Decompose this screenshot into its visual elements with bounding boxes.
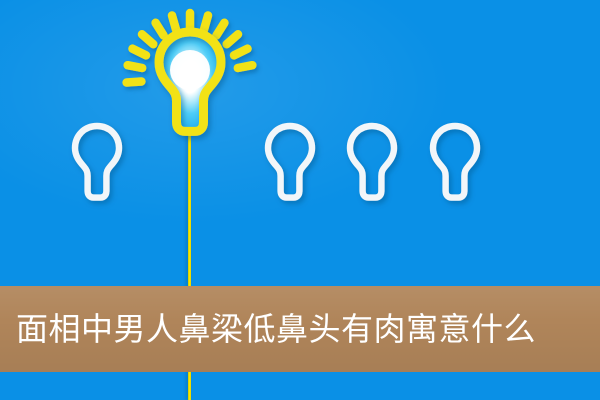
caption-banner: 面相中男人鼻梁低鼻头有肉寓意什么	[0, 286, 600, 372]
illustration-canvas: 面相中男人鼻梁低鼻头有肉寓意什么	[0, 0, 600, 400]
unlit-bulb-1	[71, 122, 123, 202]
unlit-bulb-4	[429, 122, 481, 202]
unlit-bulb-2	[264, 122, 316, 202]
caption-title: 面相中男人鼻梁低鼻头有肉寓意什么	[16, 313, 536, 345]
bulb-core	[170, 50, 210, 90]
unlit-bulb-3	[346, 122, 398, 202]
lit-idea-bulb-icon	[118, 8, 262, 148]
